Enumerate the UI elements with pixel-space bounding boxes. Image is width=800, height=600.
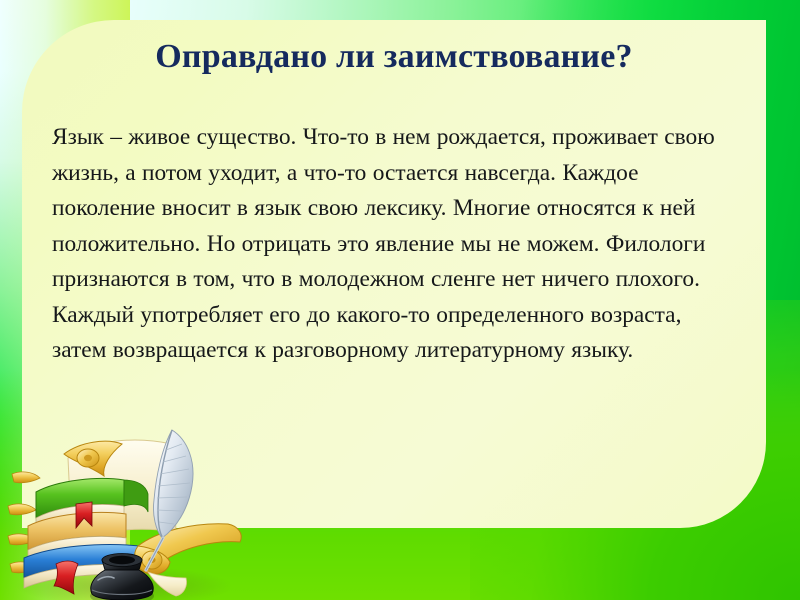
- slide-body: Язык – живое существо. Что-то в нем рожд…: [52, 120, 742, 369]
- presentation-slide: Оправдано ли заимствование? Язык – живое…: [0, 0, 800, 600]
- slide-title: Оправдано ли заимствование?: [22, 38, 766, 76]
- content-panel: Оправдано ли заимствование? Язык – живое…: [22, 20, 766, 528]
- body-paragraph: Язык – живое существо. Что-то в нем рожд…: [52, 120, 742, 369]
- content-panel-inner: Оправдано ли заимствование? Язык – живое…: [22, 20, 766, 528]
